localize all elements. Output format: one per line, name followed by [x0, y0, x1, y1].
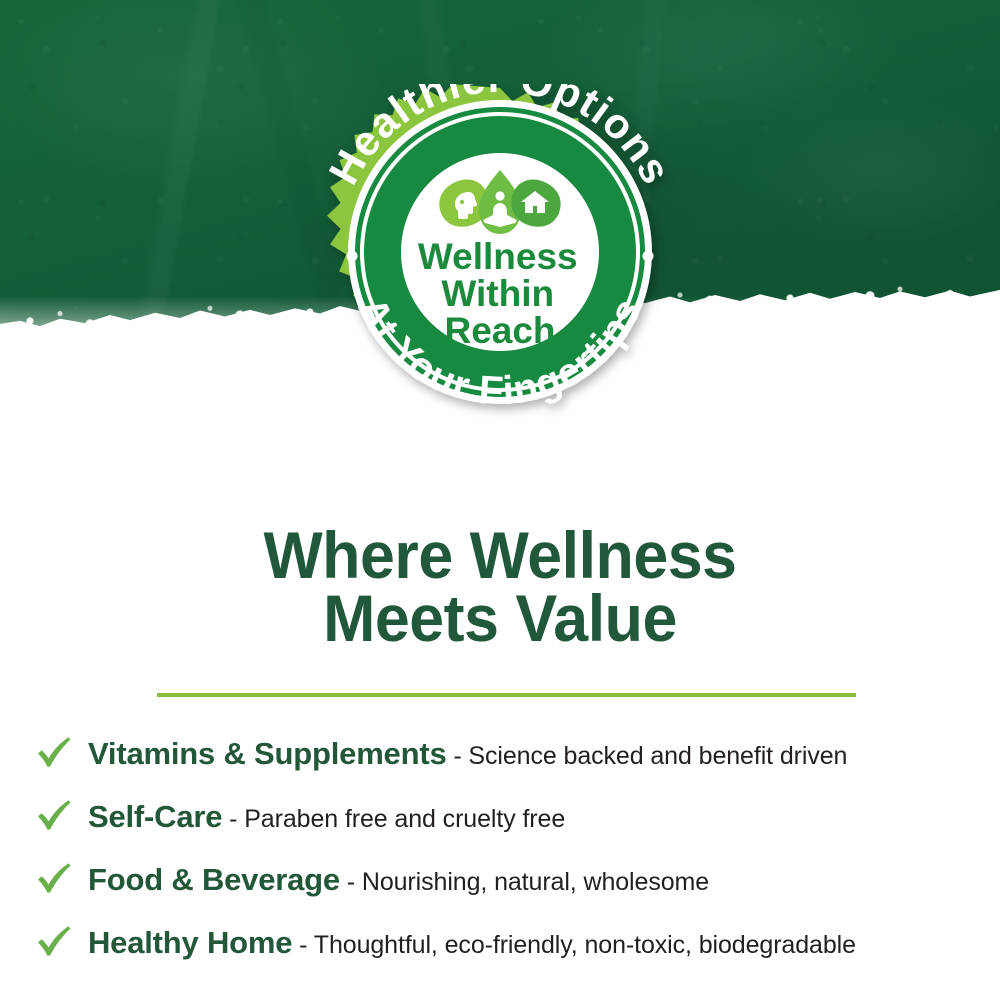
- list-item[interactable]: Self-Care - Paraben free and cruelty fre…: [0, 785, 1000, 848]
- wellness-badge-graphic: Healthier Options At Your Fingertips: [299, 84, 701, 420]
- wellness-badge: Healthier Options At Your Fingertips: [299, 84, 701, 420]
- check-icon: [34, 921, 74, 961]
- list-item-text: Vitamins & Supplements - Science backed …: [88, 738, 847, 769]
- list-item-title: Self-Care: [88, 799, 222, 834]
- check-icon: [34, 858, 74, 898]
- list-item-description: - Science backed and benefit driven: [447, 742, 848, 770]
- category-list: Vitamins & Supplements - Science backed …: [0, 722, 1000, 974]
- list-item-description: - Thoughtful, eco-friendly, non-toxic, b…: [292, 931, 856, 959]
- list-item-text: Food & Beverage - Nourishing, natural, w…: [88, 864, 709, 895]
- list-item-description: - Paraben free and cruelty free: [222, 805, 565, 833]
- list-item[interactable]: Healthy Home - Thoughtful, eco-friendly,…: [0, 911, 1000, 974]
- title-divider: [157, 693, 856, 697]
- list-item-text: Healthy Home - Thoughtful, eco-friendly,…: [88, 927, 856, 958]
- badge-dot-left: [347, 251, 358, 262]
- check-icon: [34, 732, 74, 772]
- list-item-description: - Nourishing, natural, wholesome: [340, 868, 709, 896]
- list-item-title: Vitamins & Supplements: [88, 736, 447, 771]
- page-title: Where Wellness Meets Value: [25, 524, 975, 649]
- page-title-line-2: Meets Value: [25, 587, 975, 650]
- list-item-text: Self-Care - Paraben free and cruelty fre…: [88, 801, 565, 832]
- promo-page: Healthier Options At Your Fingertips: [0, 0, 1000, 1000]
- list-item-title: Food & Beverage: [88, 862, 340, 897]
- list-item[interactable]: Food & Beverage - Nourishing, natural, w…: [0, 848, 1000, 911]
- badge-dot-right: [643, 251, 654, 262]
- list-item[interactable]: Vitamins & Supplements - Science backed …: [0, 722, 1000, 785]
- check-icon: [34, 795, 74, 835]
- list-item-title: Healthy Home: [88, 925, 292, 960]
